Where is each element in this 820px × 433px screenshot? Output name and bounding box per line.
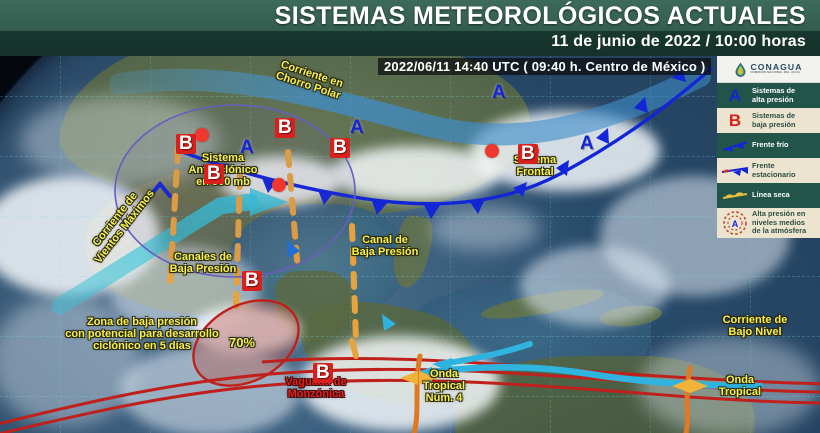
label-tropical-wave-4: Onda Tropical Núm. 4 [404,368,484,404]
high-pressure-marker: A [580,134,594,153]
low-pressure-center-dot [272,178,286,192]
legend-item-low-pressure[interactable]: B Sistemas de baja presión [717,108,820,133]
legend-panel: CONAGUA COMISIÓN NACIONAL DEL AGUA A Sis… [717,56,820,238]
label-low-pressure-channel: Canal de Baja Presión [330,234,440,258]
dry-line-icon [720,189,750,202]
conagua-drop-icon [734,62,747,77]
legend-item-label: Línea seca [750,191,817,199]
low-pressure-marker: B [313,363,333,383]
legend-item-mid-level-high[interactable]: A Alta presión en niveles medios de la a… [717,208,820,238]
mid-level-high-icon: A [720,210,750,236]
page-title: SISTEMAS METEOROLÓGICOS ACTUALES [275,2,806,31]
map-timestamp: 2022/06/11 14:40 UTC ( 09:40 h. Centro d… [378,58,711,75]
page-subtitle-datetime: 11 de junio de 2022 / 10:00 horas [551,33,806,51]
low-pressure-marker: B [518,144,538,164]
stationary-front-icon [720,164,750,178]
label-cyclone-probability: 70% [212,336,272,350]
low-pressure-marker: B [242,271,262,291]
low-pressure-center-dot [195,128,209,142]
legend-item-label: Sistemas de alta presión [750,87,817,104]
cold-front-icon [720,139,750,153]
low-pressure-marker: B [176,134,196,154]
low-pressure-center-dot [485,144,499,158]
legend-item-dry-line[interactable]: Línea seca [717,183,820,208]
legend-item-high-pressure[interactable]: A Sistemas de alta presión [717,83,820,108]
svg-text:A: A [732,219,739,229]
legend-item-label: Sistemas de baja presión [750,112,817,129]
letter-a-high-pressure-icon: A [720,87,750,104]
low-pressure-marker: B [275,118,295,138]
legend-item-label: Alta presión en niveles medios de la atm… [750,210,817,235]
legend-item-stationary-front[interactable]: Frente estacionario [717,158,820,183]
low-pressure-marker: B [204,164,224,184]
page-header: SISTEMAS METEOROLÓGICOS ACTUALES 11 de j… [0,0,820,56]
weather-map-screenshot: SISTEMAS METEOROLÓGICOS ACTUALES 11 de j… [0,0,820,433]
high-pressure-marker: A [350,118,364,137]
high-pressure-marker: A [492,83,506,102]
low-pressure-marker: B [330,138,350,158]
label-low-level-current: Corriente de Bajo Nivel [700,314,810,338]
legend-item-label: Frente frío [750,141,817,149]
caribbean-low-channel [352,341,356,356]
high-pressure-marker: A [240,138,254,157]
letter-b-low-pressure-icon: B [720,112,750,129]
legend-item-label: Frente estacionario [750,162,817,179]
conagua-logo: CONAGUA COMISIÓN NACIONAL DEL AGUA [717,56,820,83]
satellite-map[interactable]: 2022/06/11 14:40 UTC ( 09:40 h. Centro d… [0,56,820,433]
label-tropical-wave: Onda Tropical [700,374,780,398]
conagua-subtitle: COMISIÓN NACIONAL DEL AGUA [750,72,802,75]
legend-item-cold-front[interactable]: Frente frío [717,133,820,158]
low-level-current [287,240,760,386]
